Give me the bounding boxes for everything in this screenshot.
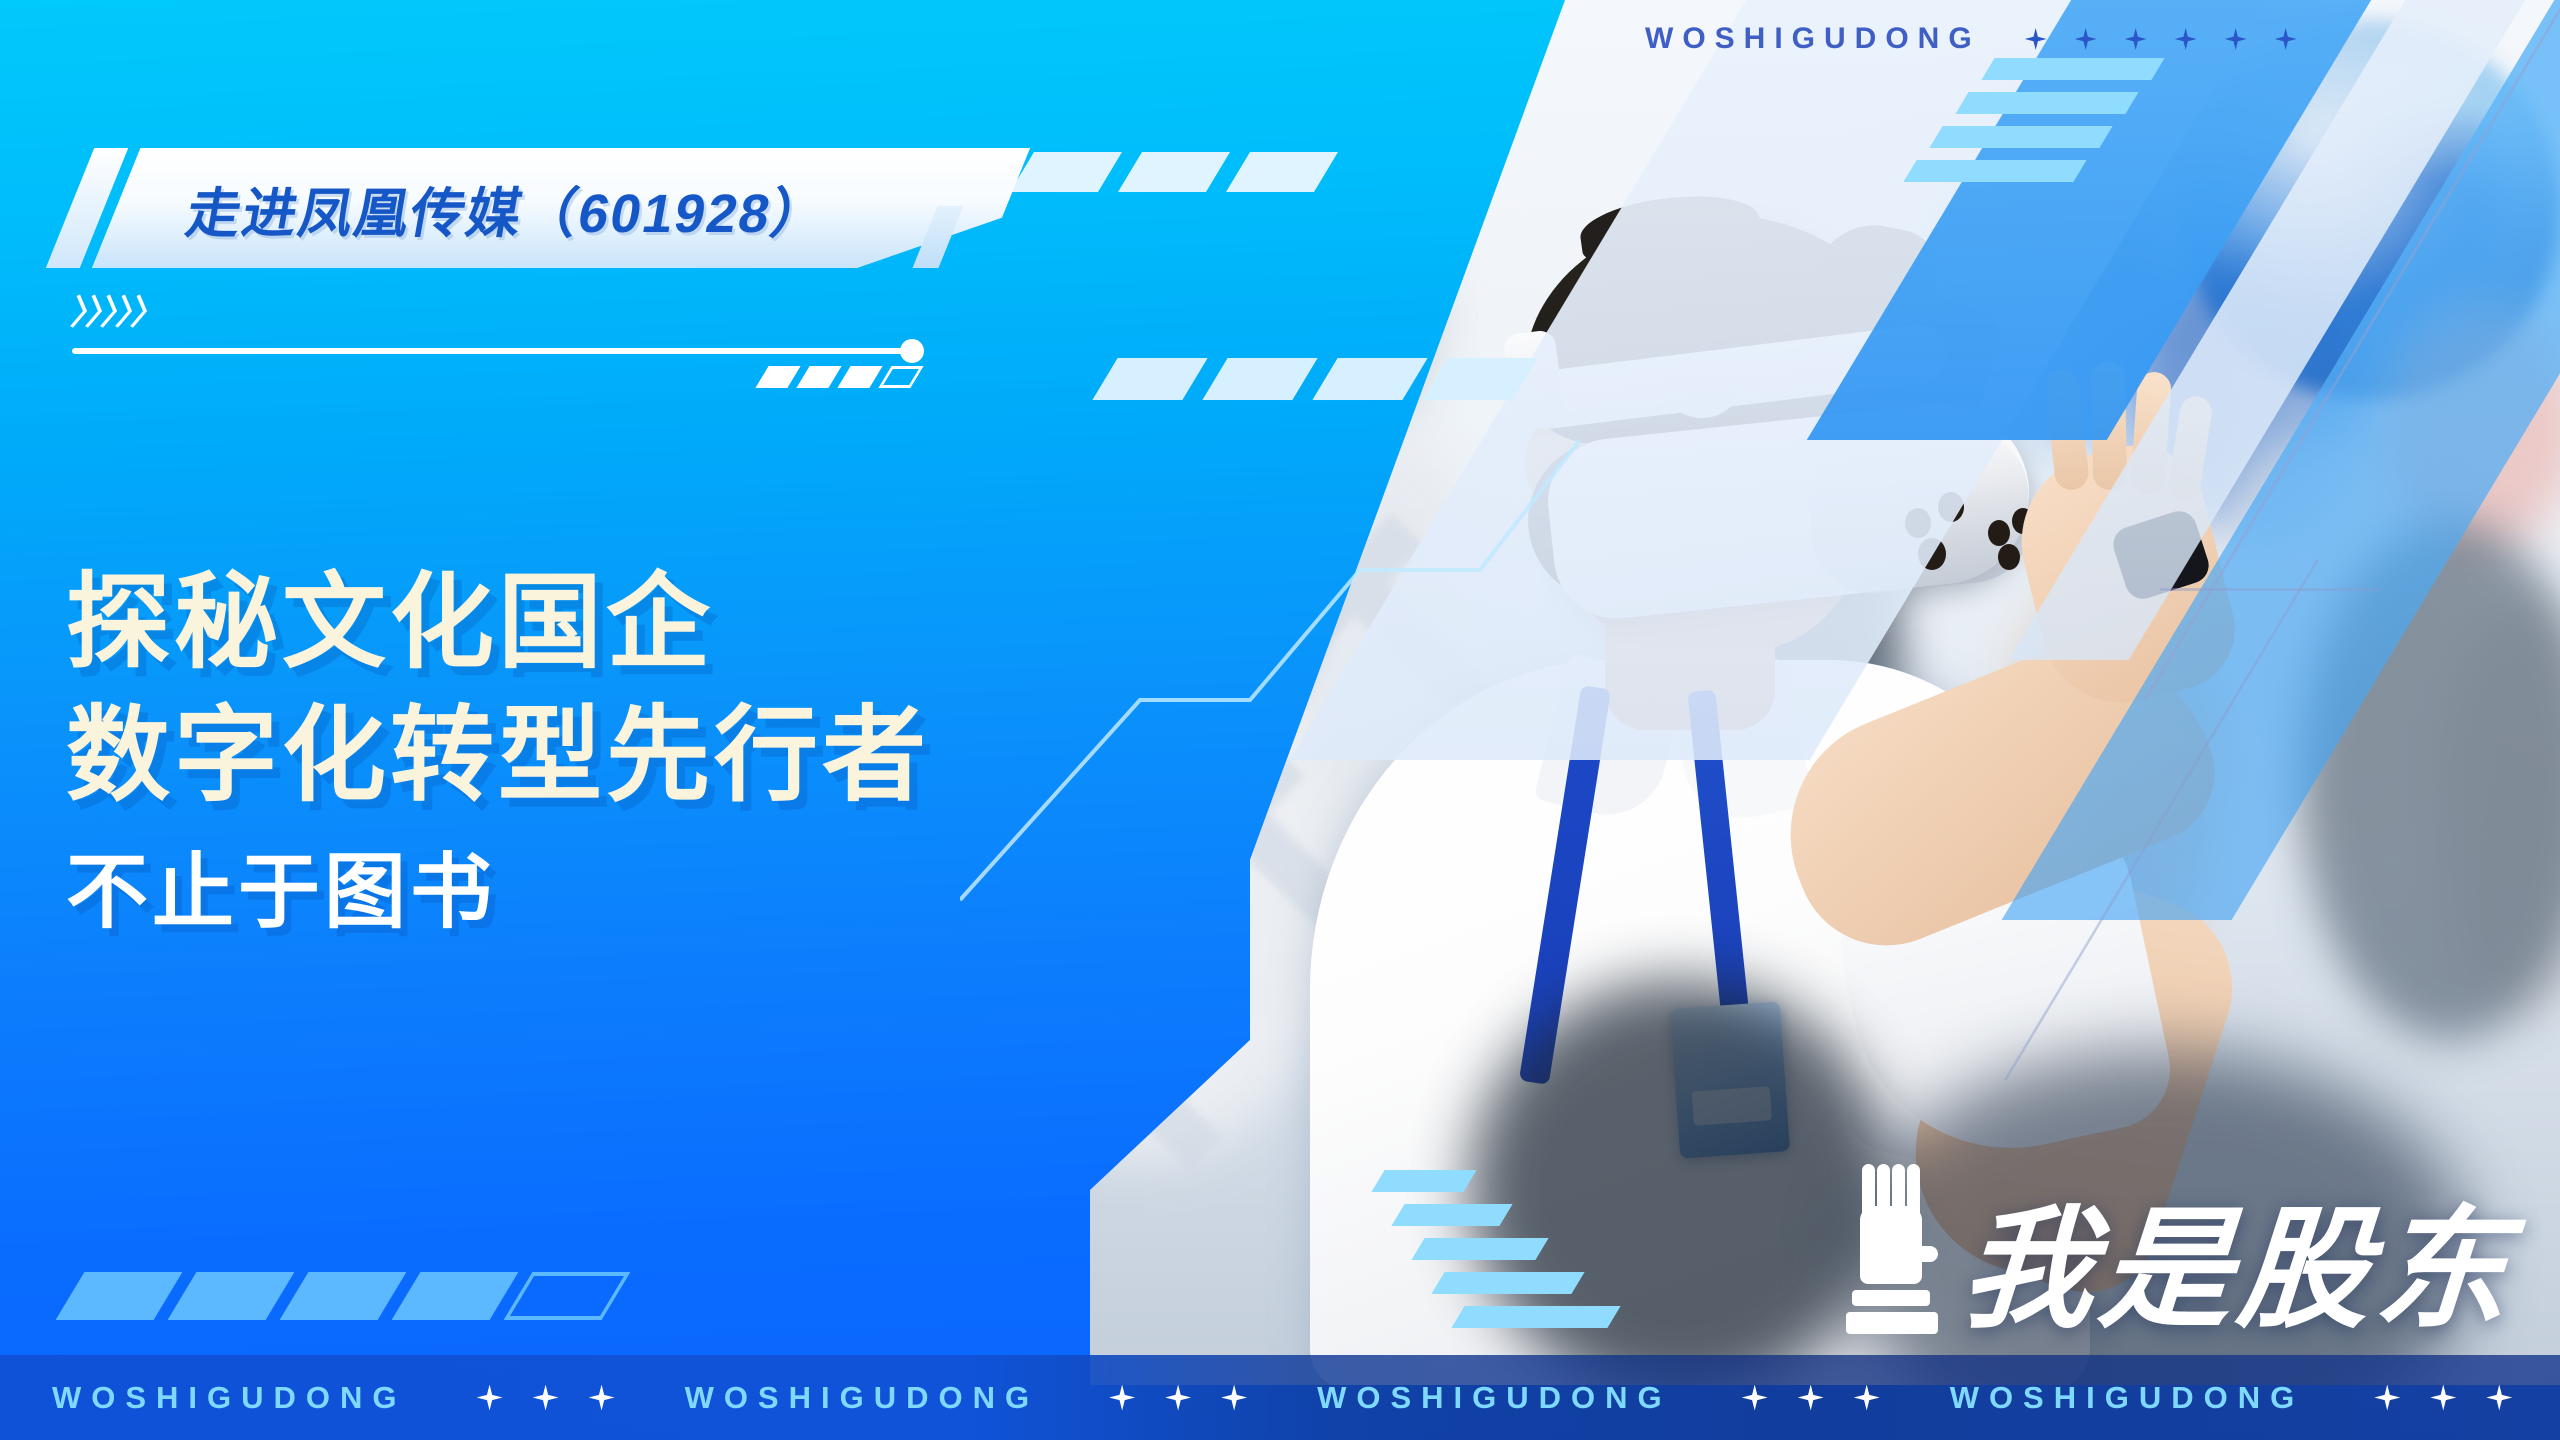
brand-logo[interactable]: 我是股东 (1844, 1158, 2514, 1336)
star-icon (1165, 1385, 1191, 1411)
star-icon (1798, 1385, 1824, 1411)
decor-dash-row (1022, 152, 1326, 192)
dash-shape (755, 366, 800, 388)
dash-shape (1312, 358, 1427, 400)
star-icon (2125, 28, 2147, 50)
flag-pole (1195, 181, 1247, 700)
footer-star-separator (407, 1385, 685, 1411)
star-icon (2075, 28, 2097, 50)
dash-shape (1092, 358, 1207, 400)
wall-chevron-icon (1016, 964, 1155, 1103)
raised-hand-icon (1844, 1158, 1940, 1336)
promo-banner: WOSHIGUDONG (0, 0, 2560, 1440)
star-icon (2486, 1385, 2512, 1411)
decor-dash-row-bottom (70, 1272, 616, 1320)
dash-shape (56, 1272, 183, 1320)
crowd-blur (1250, 190, 1440, 440)
dash-shape (837, 366, 882, 388)
dash-shape (1118, 152, 1230, 192)
header-watermark: WOSHIGUDONG (1645, 22, 2297, 56)
headline-block: 探秘文化国企 数字化转型先行者 不止于图书 (66, 556, 930, 943)
headline-line-1: 探秘文化国企 (66, 556, 930, 689)
dash-shape-outline (504, 1272, 631, 1320)
dash-shape (280, 1272, 407, 1320)
dash-shape (796, 366, 841, 388)
star-icon (1109, 1385, 1135, 1411)
divider-dash-row (762, 366, 917, 388)
dash-shape (1202, 358, 1317, 400)
divider-end-dot (900, 339, 924, 363)
brand-logo-text: 我是股东 (1957, 1204, 2518, 1336)
footer-watermark-text: WOSHIGUDONG (685, 1380, 1040, 1416)
dash-shape (392, 1272, 519, 1320)
star-icon (2225, 28, 2247, 50)
star-icon (2025, 28, 2047, 50)
footer-watermark-text: WOSHIGUDONG (1317, 1380, 1672, 1416)
star-icon (477, 1385, 503, 1411)
dash-shape (1226, 152, 1338, 192)
footer-star-separator (1039, 1385, 1317, 1411)
star-icon (589, 1385, 615, 1411)
tag-label: 走进凤凰传媒（601928） (177, 148, 838, 268)
divider-rule (72, 348, 910, 354)
dash-shape (168, 1272, 295, 1320)
star-icon (1221, 1385, 1247, 1411)
footer-ticker-bar: WOSHIGUDONG WOSHIGUDONG WOSHIGUDONG WOSH… (0, 1355, 2560, 1440)
headline-line-3: 不止于图书 (66, 844, 930, 942)
dash-shape-outline (878, 366, 923, 388)
vr-camera-icon (1988, 520, 2010, 546)
star-icon (2374, 1385, 2400, 1411)
chevron-arrows: 〉〉〉〉〉 (68, 296, 167, 330)
decor-thin-line (2160, 588, 2380, 591)
star-icon (2175, 28, 2197, 50)
star-icon (1854, 1385, 1880, 1411)
star-icon (2430, 1385, 2456, 1411)
header-watermark-text: WOSHIGUDONG (1645, 22, 1981, 56)
vr-camera-icon (1998, 544, 2020, 570)
star-icon (1742, 1385, 1768, 1411)
header-watermark-stars (2025, 28, 2297, 50)
footer-watermark-text: WOSHIGUDONG (1950, 1380, 2305, 1416)
dash-shape (1010, 152, 1122, 192)
dash-shape (1422, 358, 1537, 400)
star-icon (533, 1385, 559, 1411)
star-icon (2275, 28, 2297, 50)
decor-dash-row (1105, 358, 1525, 400)
footer-star-separator (2304, 1385, 2560, 1411)
headline-line-2: 数字化转型先行者 (66, 689, 930, 822)
footer-ticker-content: WOSHIGUDONG WOSHIGUDONG WOSHIGUDONG WOSH… (0, 1380, 2560, 1416)
footer-watermark-text: WOSHIGUDONG (52, 1380, 407, 1416)
footer-star-separator (1672, 1385, 1950, 1411)
